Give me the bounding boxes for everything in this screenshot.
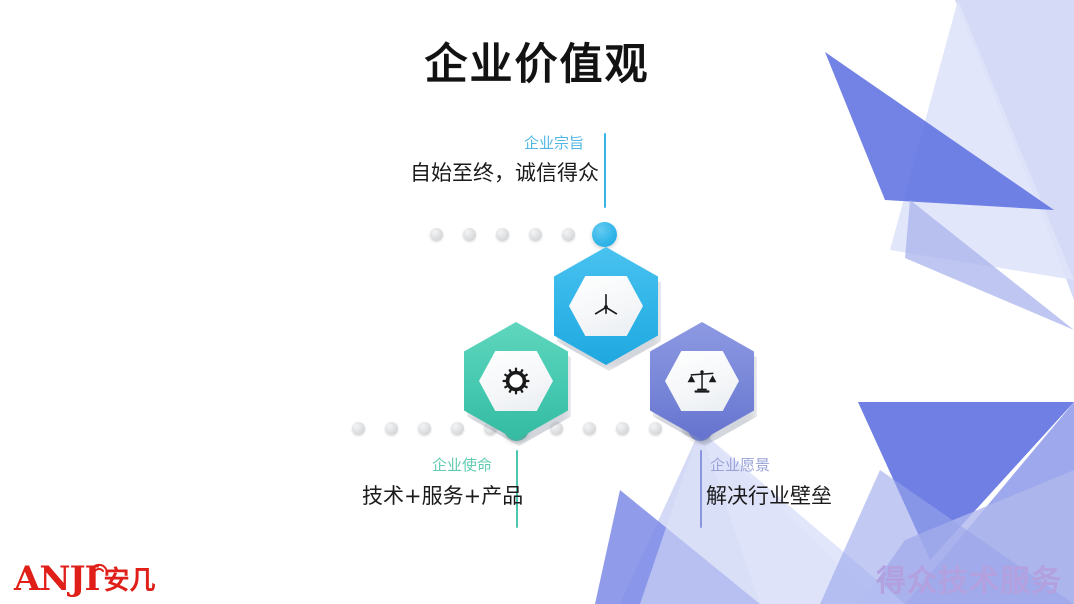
hex-icon-plate	[479, 351, 553, 411]
watermark-text: 得众技术服务	[876, 556, 1062, 600]
rail-dot	[616, 422, 629, 435]
balance-scales-icon	[685, 364, 719, 398]
active-dot-purpose[interactable]	[592, 222, 617, 247]
company-logo[interactable]: ANJI 安几	[14, 562, 155, 596]
page-title: 企业价值观	[0, 30, 1074, 92]
wind-turbine-icon	[589, 289, 623, 323]
hex-node-mission[interactable]	[464, 322, 568, 440]
deco-triangle-br-strong	[858, 402, 1074, 560]
rail-dot	[529, 228, 542, 241]
rail-dot	[463, 228, 476, 241]
hex-node-vision[interactable]	[650, 322, 754, 440]
headline-vision: 解决行业壁垒	[706, 480, 832, 510]
wifi-arc-icon	[90, 558, 108, 572]
rail-dot	[430, 228, 443, 241]
caption-vision: 企业愿景	[710, 454, 770, 475]
gear-icon	[499, 364, 533, 398]
rail-dot	[496, 228, 509, 241]
connector-line-vision	[700, 450, 702, 528]
hex-icon-plate	[665, 351, 739, 411]
caption-purpose: 企业宗旨	[524, 132, 584, 153]
headline-purpose: 自始至终，诚信得众	[410, 157, 599, 187]
hex-icon-plate	[569, 276, 643, 336]
rail-dot	[418, 422, 431, 435]
rail-dot	[451, 422, 464, 435]
logo-cjk-text: 安几	[103, 568, 155, 596]
connector-line-purpose	[604, 133, 606, 208]
rail-dot	[385, 422, 398, 435]
headline-mission: 技术+服务+产品	[362, 480, 523, 510]
rail-dot	[562, 228, 575, 241]
logo-latin-text: ANJI	[14, 562, 99, 596]
deco-triangle-tr-soft	[905, 200, 1074, 330]
caption-mission: 企业使命	[432, 454, 492, 475]
rail-dot	[352, 422, 365, 435]
slide-canvas: 企业价值观 企业宗旨 自始至终，诚信得众	[0, 0, 1074, 604]
dot-rail-top	[430, 222, 630, 250]
rail-dot	[583, 422, 596, 435]
hex-node-purpose[interactable]	[554, 247, 658, 365]
